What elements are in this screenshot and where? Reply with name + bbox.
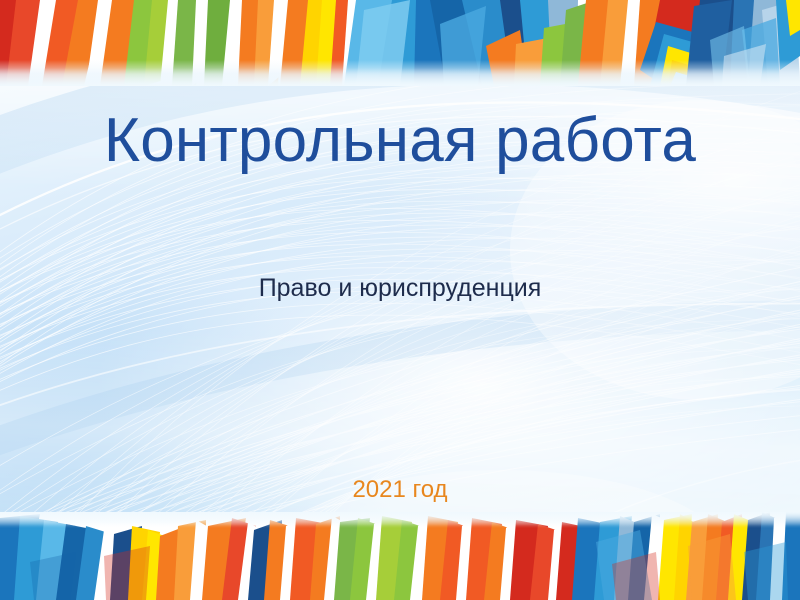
decorative-band-top [0,0,800,86]
slide-year: 2021 год [0,475,800,505]
slide-subtitle: Право и юриспруденция [0,272,800,304]
title-slide: Контрольная работа Право и юриспруденция… [0,0,800,600]
decorative-band-bottom [0,512,800,600]
slide-title: Контрольная работа [0,104,800,178]
